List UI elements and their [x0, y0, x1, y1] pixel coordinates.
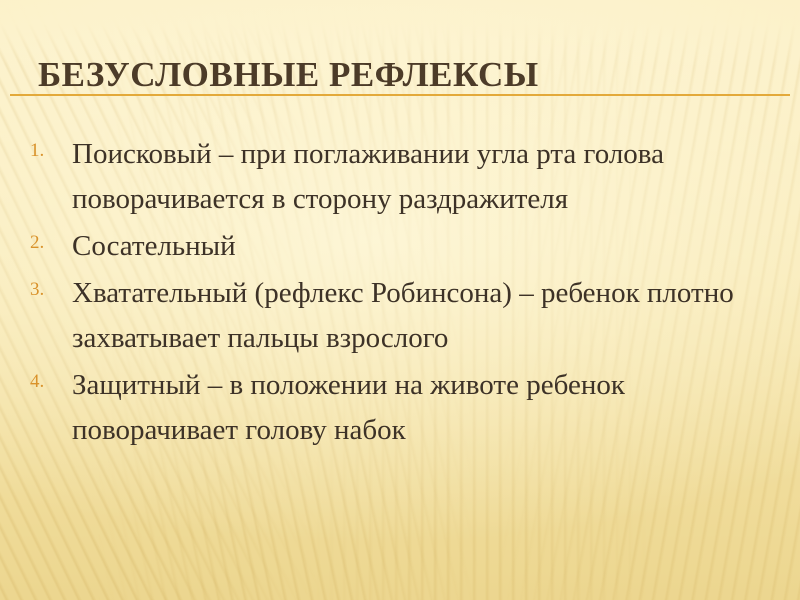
presentation-slide: Безусловные рефлексы 1. Поисковый – при …	[0, 0, 800, 600]
list-item: 3. Хватательный (рефлекс Робинсона) – ре…	[0, 271, 800, 361]
list-item-text: Сосательный	[72, 224, 800, 269]
list-item-text: Хватательный (рефлекс Робинсона) – ребен…	[72, 271, 800, 361]
list-item-text: Поисковый – при поглаживании угла рта го…	[72, 132, 800, 222]
reflex-list: 1. Поисковый – при поглаживании угла рта…	[0, 132, 800, 455]
list-item-marker: 3.	[30, 280, 64, 299]
slide-title-block: Безусловные рефлексы	[0, 52, 800, 104]
list-item-text: Защитный – в положении на животе ребенок…	[72, 363, 772, 453]
list-item: 2. Сосательный	[0, 224, 800, 269]
page-title: Безусловные рефлексы	[38, 52, 539, 98]
list-item-marker: 1.	[30, 141, 64, 160]
list-item: 4. Защитный – в положении на животе ребе…	[0, 363, 800, 453]
slide-content: Безусловные рефлексы 1. Поисковый – при …	[0, 0, 800, 600]
title-underline-rule	[10, 94, 790, 96]
list-item: 1. Поисковый – при поглаживании угла рта…	[0, 132, 800, 222]
list-item-marker: 2.	[30, 233, 64, 252]
list-item-marker: 4.	[30, 372, 64, 391]
